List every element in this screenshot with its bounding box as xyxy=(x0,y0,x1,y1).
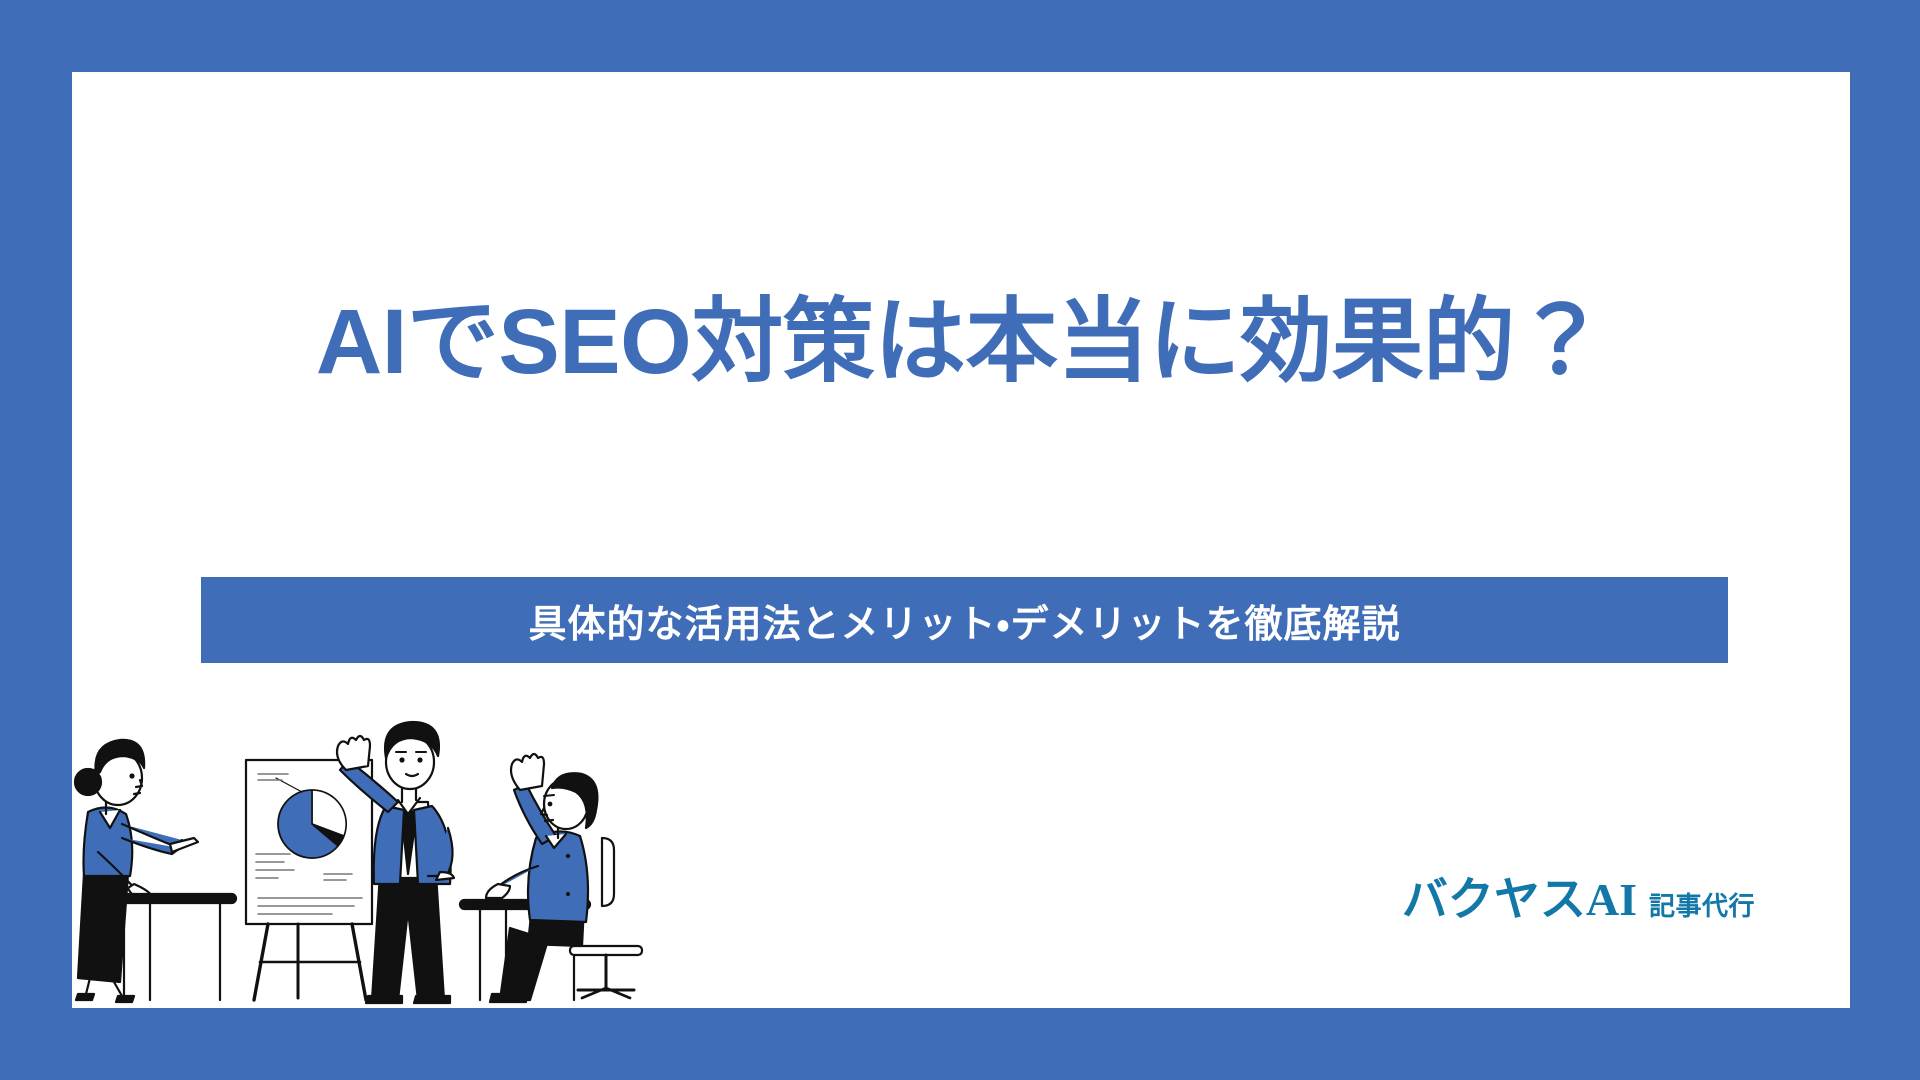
brand-logo: バクヤスAI 記事代行 xyxy=(1402,877,1755,923)
subtitle-text: 具体的な活用法とメリット・デメリットを徹底解説 xyxy=(529,593,1401,648)
subtitle-band: 具体的な活用法とメリット・デメリットを徹底解説 xyxy=(201,577,1728,663)
slide-root: AIでSEO対策は本当に効果的？ 具体的な活用法とメリット・デメリットを徹底解説… xyxy=(0,0,1920,1080)
brand-logo-name: バクヤスAI xyxy=(1402,877,1637,923)
page-title: AIでSEO対策は本当に効果的？ xyxy=(72,294,1850,391)
white-content-panel: AIでSEO対策は本当に効果的？ 具体的な活用法とメリット・デメリットを徹底解説… xyxy=(72,72,1850,1008)
illustration-svg xyxy=(72,678,682,1008)
business-team-illustration xyxy=(72,678,682,1008)
brand-logo-service: 記事代行 xyxy=(1649,893,1755,919)
